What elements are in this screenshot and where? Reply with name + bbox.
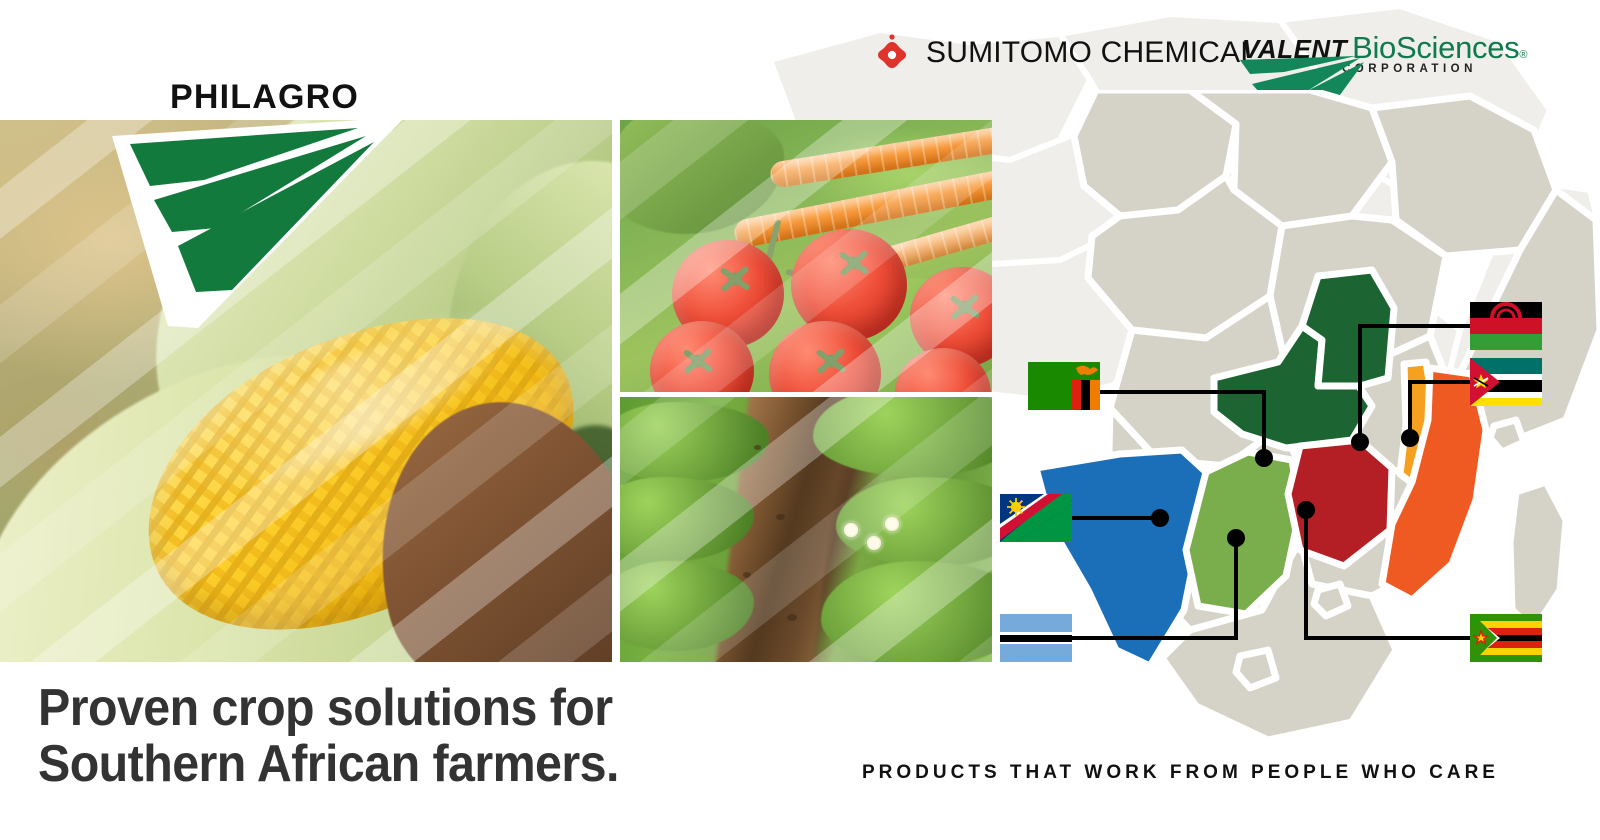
philagro-fan-icon — [108, 118, 408, 328]
biosciences-wordmark: BioSciences — [1352, 30, 1519, 66]
malawi-flag[interactable] — [1470, 302, 1542, 350]
headline: Proven crop solutions for Southern Afric… — [38, 681, 619, 792]
philagro-wordmark: PHILAGRO — [170, 78, 359, 117]
registered-mark: ® — [1519, 49, 1527, 61]
botswana-flag[interactable] — [1000, 614, 1072, 662]
zambia-flag[interactable] — [1028, 362, 1100, 410]
sumitomo-wordmark: SUMITOMO CHEMICAL — [926, 36, 1257, 70]
mozambique-flag[interactable] — [1470, 358, 1542, 406]
poster-canvas: PHILAGRO SUMITOMO CHEMICAL VALENT BioSci… — [0, 0, 1600, 840]
southern-africa-map — [1000, 90, 1600, 750]
tagline: PRODUCTS THAT WORK FROM PEOPLE WHO CARE — [862, 762, 1499, 784]
namibia-flag[interactable] — [1000, 494, 1072, 542]
philagro-logo: PHILAGRO — [108, 78, 408, 328]
sumitomo-chemical-logo: SUMITOMO CHEMICAL — [872, 33, 1257, 73]
photo-vegetables — [620, 120, 992, 392]
zimbabwe-flag[interactable] — [1470, 614, 1542, 662]
photo-potato-field — [620, 397, 992, 662]
sumitomo-diamond-icon — [872, 33, 912, 73]
